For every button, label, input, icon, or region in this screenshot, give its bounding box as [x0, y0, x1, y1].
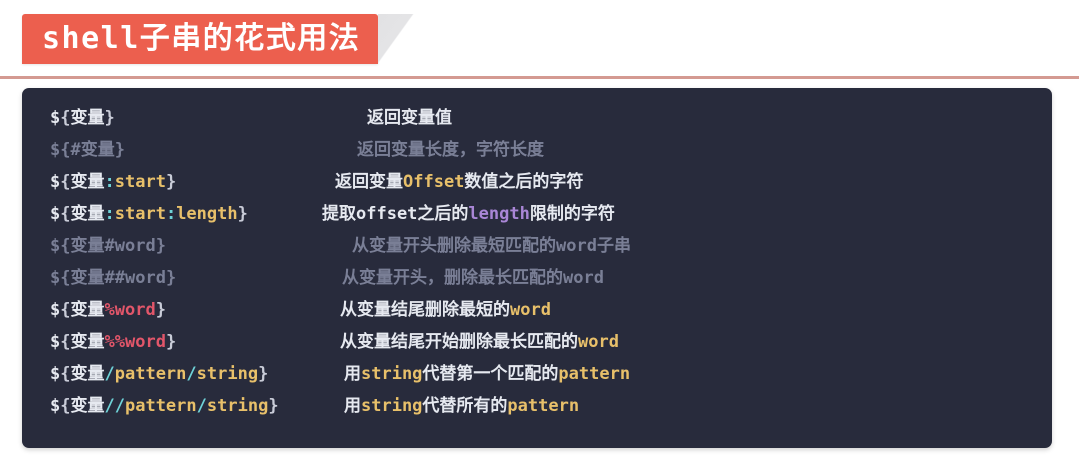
description-token: 代替所有的	[422, 396, 507, 416]
description-token: 提取	[322, 204, 356, 224]
description-token: 限制的字符	[530, 204, 615, 224]
syntax-token: string	[197, 364, 258, 384]
description-token: 子串	[597, 236, 631, 256]
description-token: 从变量开头，删除最长匹配的	[342, 268, 563, 288]
syntax-token: #	[105, 236, 115, 256]
syntax-token: }	[156, 300, 166, 320]
description-token: 之后的	[417, 204, 468, 224]
syntax-token: {	[60, 140, 70, 160]
description-token: offset	[356, 204, 417, 224]
description-token: 数值之后的字符	[464, 172, 583, 192]
code-row: ${变量:start:length}提取offset之后的length限制的字符	[22, 198, 1052, 230]
syntax-token: 变量	[71, 300, 105, 320]
syntax-token: {	[60, 300, 70, 320]
description-token: length	[468, 204, 529, 224]
syntax-token: $	[50, 396, 60, 416]
syntax-token: $	[50, 300, 60, 320]
row-description: 提取offset之后的length限制的字符	[322, 198, 615, 230]
syntax-token: 变量	[71, 108, 105, 128]
syntax-token: 变量	[71, 268, 105, 288]
title-banner-area: shell子串的花式用法	[0, 0, 1079, 80]
description-token: word	[563, 268, 604, 288]
syntax-token: {	[60, 108, 70, 128]
description-token: 用	[344, 396, 361, 416]
row-description: 用string代替第一个匹配的pattern	[344, 358, 630, 390]
description-token: 代替第一个匹配的	[422, 364, 558, 384]
syntax-expression: ${变量//pattern/string}	[50, 390, 279, 422]
syntax-token: $	[50, 364, 60, 384]
syntax-token: pattern	[125, 396, 197, 416]
syntax-token: 变量	[71, 172, 105, 192]
syntax-token: string	[207, 396, 268, 416]
syntax-token: }	[115, 140, 125, 160]
syntax-token: pattern	[115, 364, 187, 384]
row-description: 返回变量值	[367, 102, 452, 134]
syntax-token: $	[50, 140, 60, 160]
code-row: ${变量//pattern/string}用string代替所有的pattern	[22, 390, 1052, 422]
syntax-token: 变量	[71, 204, 105, 224]
syntax-expression: ${变量%%word}	[50, 326, 176, 358]
syntax-token: :	[105, 172, 115, 192]
syntax-token: $	[50, 204, 60, 224]
syntax-token: {	[60, 236, 70, 256]
row-description: 从变量结尾删除最短的word	[340, 294, 551, 326]
description-token: 从变量结尾删除最短的	[340, 300, 510, 320]
syntax-token: $	[50, 268, 60, 288]
syntax-token: word	[115, 300, 156, 320]
syntax-token: }	[238, 204, 248, 224]
syntax-expression: ${变量##word}	[50, 262, 176, 294]
syntax-token: start	[115, 172, 166, 192]
syntax-token: }	[268, 396, 278, 416]
description-token: 用	[344, 364, 361, 384]
syntax-token: %	[105, 300, 115, 320]
description-token: word	[510, 300, 551, 320]
row-description: 返回变量长度，字符长度	[357, 134, 544, 166]
syntax-token: }	[166, 332, 176, 352]
row-description: 从变量结尾开始删除最长匹配的word	[340, 326, 619, 358]
syntax-expression: ${变量/pattern/string}	[50, 358, 268, 390]
code-row: ${变量##word}从变量开头，删除最长匹配的word	[22, 262, 1052, 294]
syntax-expression: ${变量}	[50, 102, 115, 134]
description-token: 返回变量	[335, 172, 403, 192]
syntax-token: }	[166, 268, 176, 288]
description-token: string	[361, 396, 422, 416]
row-description: 从变量开头，删除最长匹配的word	[342, 262, 604, 294]
row-description: 从变量开头删除最短匹配的word子串	[352, 230, 631, 262]
description-token: string	[361, 364, 422, 384]
syntax-token: }	[156, 236, 166, 256]
title-banner: shell子串的花式用法	[22, 14, 378, 64]
syntax-token: :	[105, 204, 115, 224]
syntax-token: }	[166, 172, 176, 192]
syntax-expression: ${变量:start:length}	[50, 198, 248, 230]
syntax-token: 变量	[71, 236, 105, 256]
row-description: 用string代替所有的pattern	[344, 390, 579, 422]
syntax-token: length	[176, 204, 237, 224]
row-description: 返回变量Offset数值之后的字符	[335, 166, 583, 198]
syntax-token: 变量	[71, 332, 105, 352]
syntax-expression: ${#变量}	[50, 134, 125, 166]
syntax-token: word	[125, 268, 166, 288]
syntax-token: /	[105, 364, 115, 384]
syntax-token: start	[115, 204, 166, 224]
syntax-token: word	[125, 332, 166, 352]
code-row: ${变量#word}从变量开头删除最短匹配的word子串	[22, 230, 1052, 262]
syntax-token: :	[166, 204, 176, 224]
syntax-token: ##	[105, 268, 125, 288]
description-token: 返回变量长度，字符长度	[357, 140, 544, 160]
description-token: 从变量开头删除最短匹配的	[352, 236, 556, 256]
syntax-expression: ${变量%word}	[50, 294, 166, 326]
syntax-expression: ${变量:start}	[50, 166, 176, 198]
syntax-token: $	[50, 332, 60, 352]
description-token: word	[578, 332, 619, 352]
description-token: word	[556, 236, 597, 256]
syntax-token: }	[258, 364, 268, 384]
syntax-token: $	[50, 236, 60, 256]
syntax-token: {	[60, 364, 70, 384]
page-title: shell子串的花式用法	[42, 24, 360, 54]
syntax-token: {	[60, 172, 70, 192]
syntax-token: $	[50, 172, 60, 192]
syntax-token: 变量	[81, 140, 115, 160]
syntax-token: {	[60, 332, 70, 352]
syntax-token: 变量	[71, 364, 105, 384]
code-row: ${#变量}返回变量长度，字符长度	[22, 134, 1052, 166]
code-row: ${变量%%word}从变量结尾开始删除最长匹配的word	[22, 326, 1052, 358]
description-token: pattern	[507, 396, 579, 416]
syntax-token: /	[197, 396, 207, 416]
syntax-token: //	[105, 396, 125, 416]
description-token: 从变量结尾开始删除最长匹配的	[340, 332, 578, 352]
code-row: ${变量:start}返回变量Offset数值之后的字符	[22, 166, 1052, 198]
code-row: ${变量}返回变量值	[22, 102, 1052, 134]
description-token: 返回变量值	[367, 108, 452, 128]
header-divider	[0, 76, 1079, 79]
banner-fold-shadow	[378, 14, 414, 64]
description-token: Offset	[403, 172, 464, 192]
syntax-token: /	[186, 364, 196, 384]
syntax-token: 变量	[71, 396, 105, 416]
code-row: ${变量%word}从变量结尾删除最短的word	[22, 294, 1052, 326]
syntax-token: {	[60, 204, 70, 224]
syntax-token: }	[105, 108, 115, 128]
code-block: ${变量}返回变量值${#变量}返回变量长度，字符长度${变量:start}返回…	[22, 88, 1052, 448]
syntax-token: $	[50, 108, 60, 128]
syntax-expression: ${变量#word}	[50, 230, 166, 262]
syntax-token: %%	[105, 332, 125, 352]
syntax-token: word	[115, 236, 156, 256]
syntax-token: {	[60, 396, 70, 416]
description-token: pattern	[558, 364, 630, 384]
syntax-token: #	[71, 140, 81, 160]
code-row: ${变量/pattern/string}用string代替第一个匹配的patte…	[22, 358, 1052, 390]
syntax-token: {	[60, 268, 70, 288]
